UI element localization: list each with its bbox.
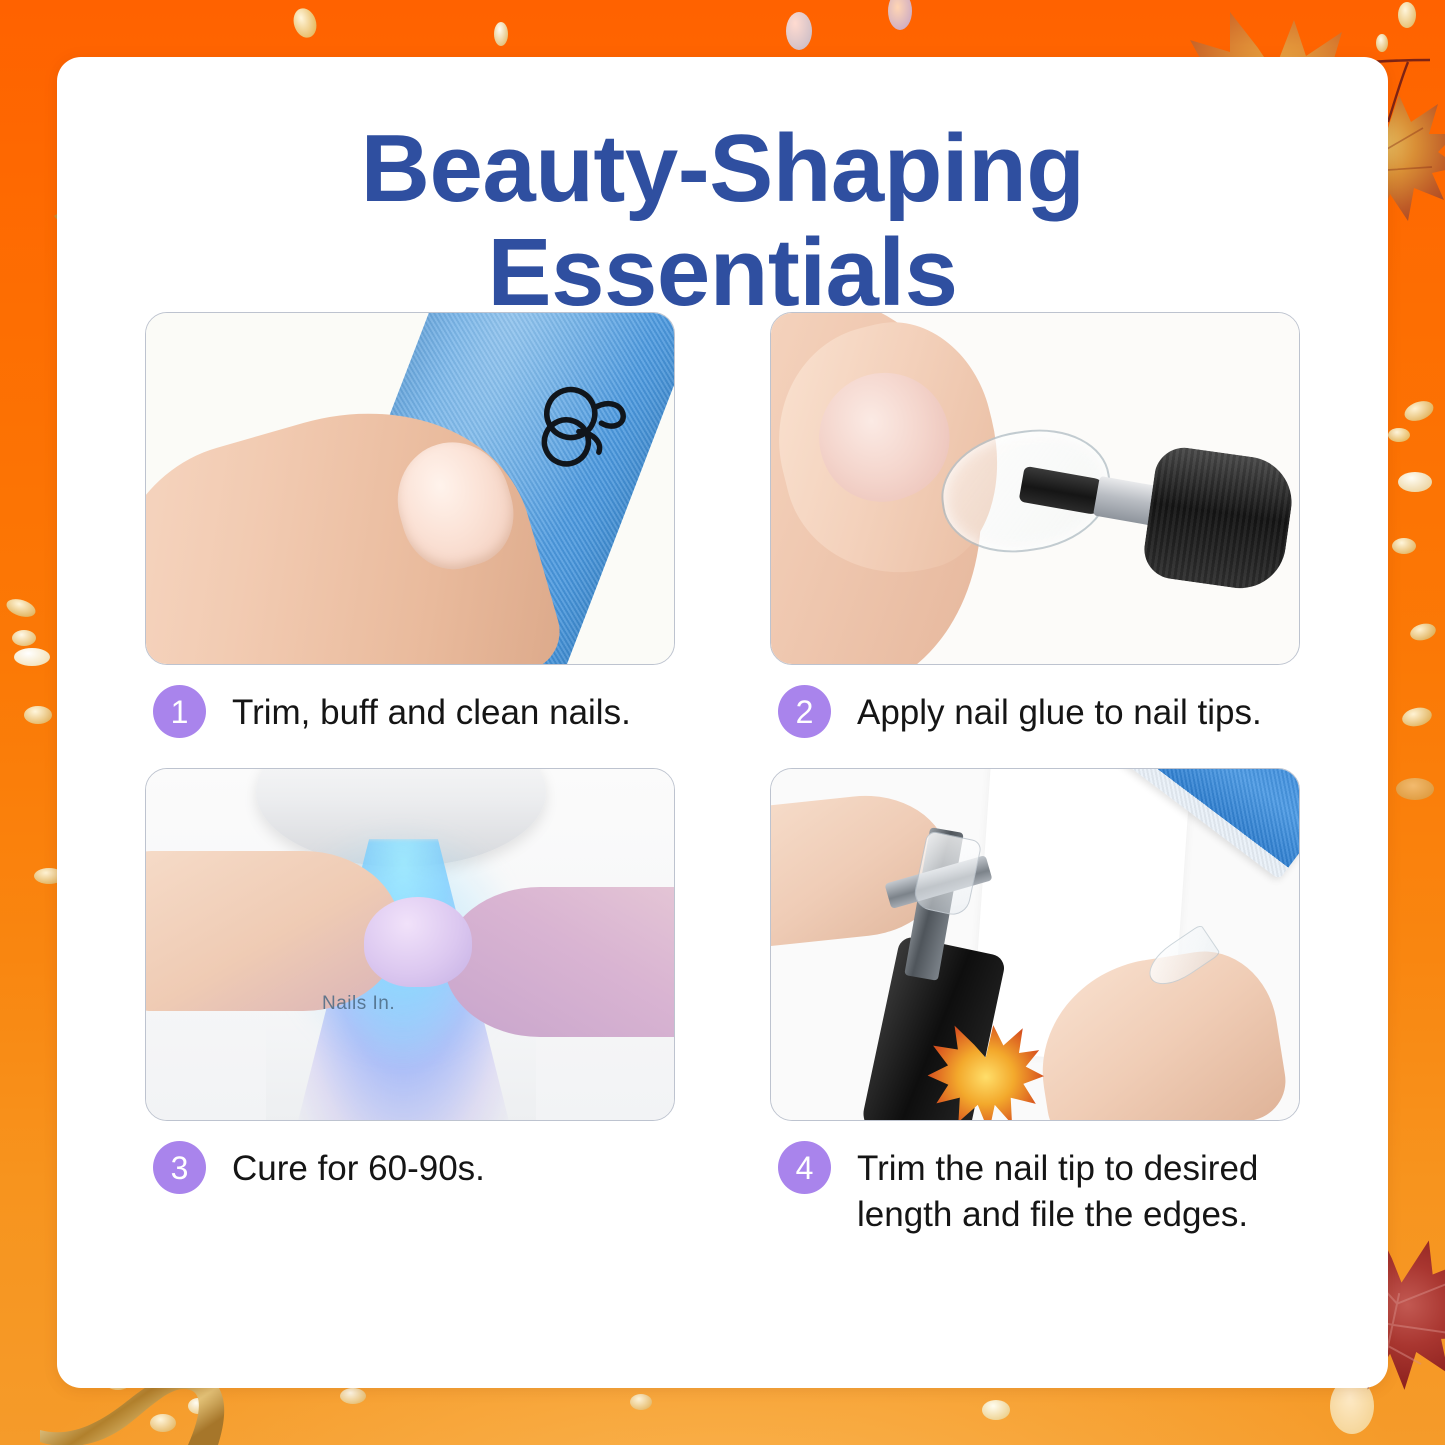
cured-nail: [364, 897, 472, 987]
left-finger: [145, 851, 401, 1011]
page-title: Beauty-Shaping Essentials: [57, 117, 1388, 324]
steps-grid: beetles GEL POLISH 1 Trim, buff and clea…: [145, 312, 1300, 1238]
confetti-dot: [1408, 621, 1437, 643]
step-2-text: Apply nail glue to nail tips.: [857, 685, 1262, 736]
confetti-dot: [1376, 34, 1388, 52]
step-3: Nails In. 3 Cure for 60-90s.: [145, 768, 675, 1238]
content-card: Beauty-Shaping Essentials: [57, 57, 1388, 1388]
step-4-badge: 4: [778, 1141, 831, 1194]
confetti-dot: [150, 1414, 176, 1432]
confetti-dot: [1398, 2, 1416, 28]
confetti-dot: [786, 12, 812, 50]
confetti-dot: [32, 728, 54, 742]
step-2-image: [770, 312, 1300, 665]
step-1-image: beetles GEL POLISH: [145, 312, 675, 665]
step-1-caption: 1 Trim, buff and clean nails.: [145, 685, 675, 738]
confetti-dot: [982, 1400, 1010, 1420]
step-3-badge: 3: [153, 1141, 206, 1194]
step-4-image: [770, 768, 1300, 1121]
confetti-dot: [1402, 397, 1436, 424]
step-2-badge: 2: [778, 685, 831, 738]
step-4-text-line-1: Trim the nail tip to desired: [857, 1149, 1258, 1188]
step-3-image: Nails In.: [145, 768, 675, 1121]
confetti-dot: [1392, 538, 1416, 554]
confetti-dot: [630, 1394, 652, 1410]
page-title-line-2: Essentials: [57, 221, 1388, 325]
step-1: beetles GEL POLISH 1 Trim, buff and clea…: [145, 312, 675, 738]
confetti-dot: [1388, 428, 1410, 442]
confetti-dot: [290, 5, 320, 40]
confetti-dot: [340, 1388, 366, 1404]
step-4-text-line-2: length and file the edges.: [857, 1195, 1248, 1234]
confetti-dot: [888, 0, 912, 30]
step-1-badge: 1: [153, 685, 206, 738]
step-2-caption: 2 Apply nail glue to nail tips.: [770, 685, 1300, 738]
confetti-dot: [12, 630, 36, 646]
step-3-text: Cure for 60-90s.: [232, 1141, 485, 1192]
confetti-dot: [1396, 778, 1434, 800]
step-1-text: Trim, buff and clean nails.: [232, 685, 631, 736]
step-4-caption: 4 Trim the nail tip to desired length an…: [770, 1141, 1300, 1238]
step-2: 2 Apply nail glue to nail tips.: [770, 312, 1300, 738]
step-3-caption: 3 Cure for 60-90s.: [145, 1141, 675, 1194]
confetti-dot: [1400, 705, 1433, 729]
glue-bottle-cap: [1140, 444, 1297, 594]
page-title-line-1: Beauty-Shaping: [57, 117, 1388, 221]
confetti-dot: [14, 648, 50, 666]
confetti-dot: [494, 22, 508, 46]
confetti-dot: [188, 1398, 208, 1414]
step-4-text: Trim the nail tip to desired length and …: [857, 1141, 1258, 1238]
right-finger: [444, 887, 675, 1037]
uv-lamp-label: Nails In.: [322, 993, 395, 1015]
confetti-dot: [1398, 472, 1432, 492]
step-4: 4 Trim the nail tip to desired length an…: [770, 768, 1300, 1238]
confetti-dot: [4, 596, 37, 620]
confetti-dot: [24, 706, 52, 724]
